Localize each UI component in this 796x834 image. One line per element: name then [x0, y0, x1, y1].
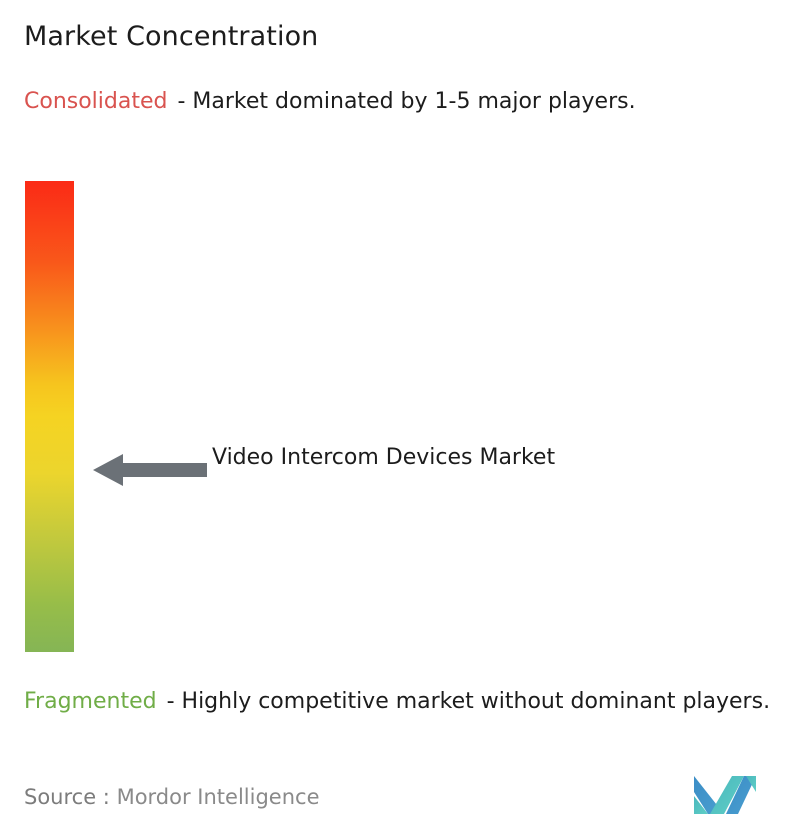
- legend-fragmented: Fragmented- Highly competitive market wi…: [24, 686, 784, 718]
- page-title: Market Concentration: [24, 20, 318, 54]
- source-attribution: Source : Mordor Intelligence: [24, 783, 319, 811]
- legend-consolidated: Consolidated- Market dominated by 1-5 ma…: [24, 86, 772, 118]
- pointer-label: Video Intercom Devices Market: [212, 440, 632, 475]
- concentration-spectrum-bar: [25, 181, 74, 652]
- source-value: Mordor Intelligence: [117, 785, 320, 809]
- market-concentration-infographic: Market Concentration Consolidated- Marke…: [0, 0, 796, 834]
- legend-consolidated-term: Consolidated: [24, 89, 167, 114]
- arrow-left-icon: [93, 452, 207, 488]
- legend-fragmented-description: - Highly competitive market without domi…: [167, 689, 770, 714]
- source-label: Source :: [24, 785, 110, 809]
- legend-consolidated-description: - Market dominated by 1-5 major players.: [177, 89, 635, 114]
- mordor-intelligence-logo: [694, 772, 756, 814]
- legend-fragmented-term: Fragmented: [24, 689, 157, 714]
